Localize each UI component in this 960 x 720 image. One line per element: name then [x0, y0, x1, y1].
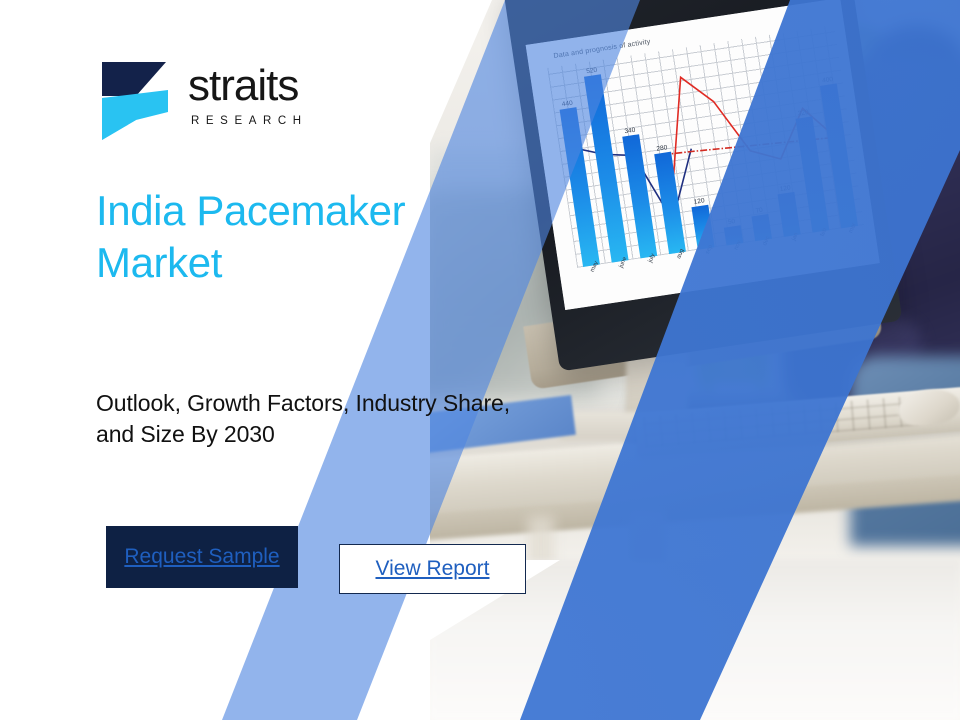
page-title: India Pacemaker Market [96, 185, 496, 289]
cta-button-row: Request Sample View Report [96, 520, 536, 596]
logo-mark-icon [100, 60, 178, 142]
straits-research-logo[interactable]: straits RESEARCH [100, 58, 400, 144]
request-sample-button[interactable]: Request Sample [106, 526, 298, 588]
page-subtitle: Outlook, Growth Factors, Industry Share,… [96, 388, 536, 450]
logo-tagline: RESEARCH [191, 115, 308, 127]
view-report-button[interactable]: View Report [339, 544, 526, 594]
logo-wordmark: straits [188, 64, 298, 108]
poster-canvas: Data and prognosis of activity 440520340… [0, 0, 960, 720]
hero-content: straits RESEARCH India Pacemaker Market … [0, 0, 500, 720]
request-sample-label: Request Sample [124, 545, 279, 569]
view-report-label: View Report [375, 557, 489, 581]
